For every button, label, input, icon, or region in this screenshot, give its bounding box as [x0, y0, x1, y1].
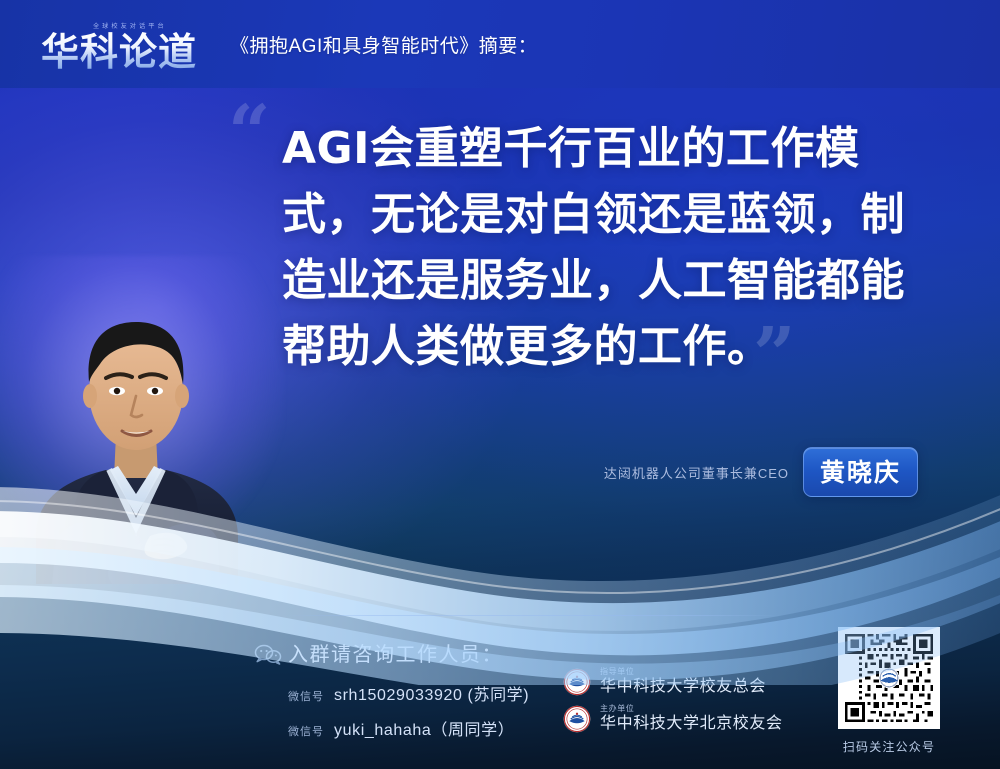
speaker-name-badge: 黄晓庆 [803, 447, 918, 497]
attribution: 达闼机器人公司董事长兼CEO 黄晓庆 [604, 447, 918, 497]
poster-root: 全球校友对话平台 华科论道 《拥抱AGI和具身智能时代》摘要： “ AGI会重塑… [0, 0, 1000, 769]
quote-text: AGI会重塑千行百业的工作模式，无论是对白领还是蓝领，制造业还是服务业，人工智能… [282, 116, 942, 380]
page-title: 《拥抱AGI和具身智能时代》摘要： [230, 31, 537, 58]
header-bar: 全球校友对话平台 华科论道 《拥抱AGI和具身智能时代》摘要： [0, 0, 1000, 88]
quote-close-icon: ” [753, 318, 796, 392]
footer-divider [282, 615, 780, 616]
footer [0, 609, 1000, 769]
quote-open-icon: “ [228, 96, 271, 170]
logo-wordmark: 华科论道 [41, 32, 197, 72]
logo-tagline: 全球校友对话平台 [93, 20, 167, 30]
speaker-role: 达闼机器人公司董事长兼CEO [604, 463, 789, 482]
brand-logo: 全球校友对话平台 华科论道 [28, 16, 210, 72]
